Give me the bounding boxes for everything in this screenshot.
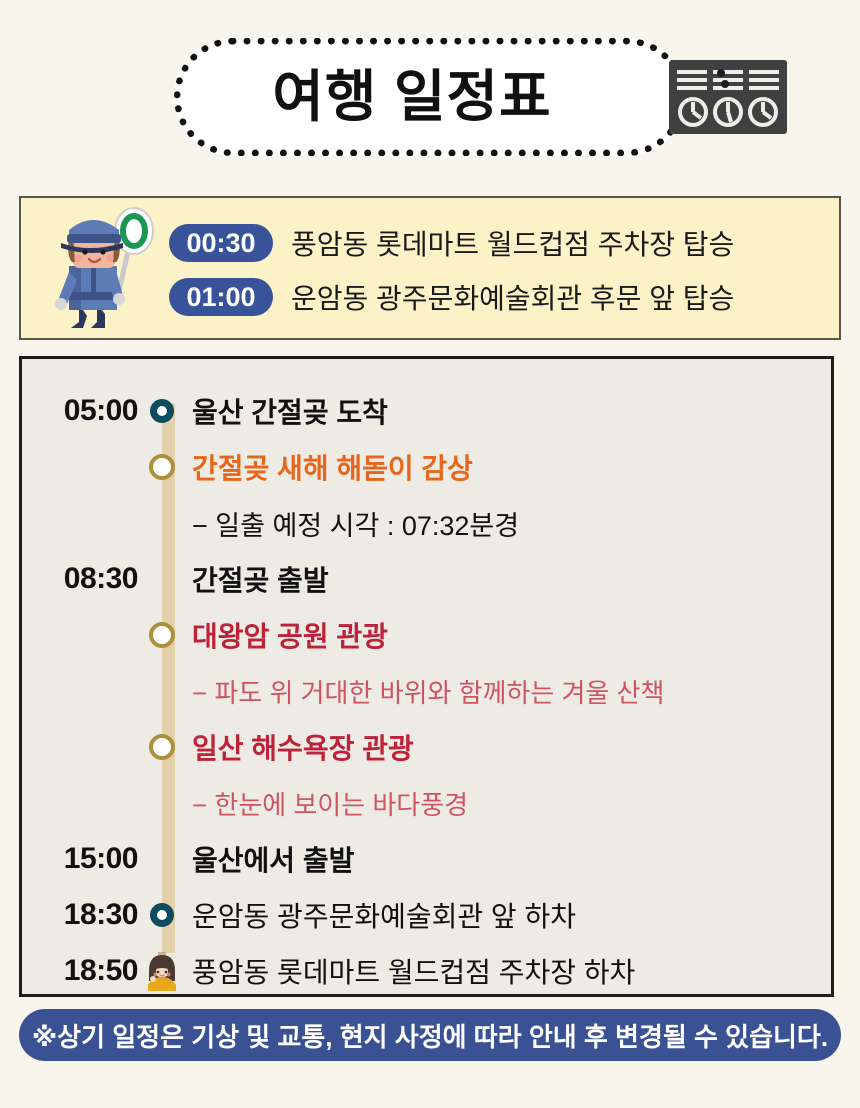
row-time: 08:30 [22, 562, 144, 596]
title-pill: 여행 일정표 [174, 38, 686, 156]
time-badge: 01:00 [169, 278, 273, 316]
row-text: − 파도 위 거대한 바위와 함께하는 겨울 산책 [192, 673, 664, 710]
timeline-dot-icon [149, 734, 175, 760]
row-marker-gold [144, 734, 180, 760]
row-marker-gold [144, 622, 180, 648]
boarding-row-text: 풍암동 롯데마트 월드컵점 주차장 탑승 [291, 223, 734, 263]
page-header: 여행 일정표 [0, 32, 860, 162]
row-text: 울산 간절곶 도착 [192, 391, 388, 431]
row-time: 15:00 [22, 842, 144, 876]
timeline-row: 05:00 울산 간절곶 도착 [22, 383, 831, 439]
timeline: 05:00 울산 간절곶 도착 간절곶 새해 해돋이 감상 − 일출 예정 시각… [22, 383, 831, 999]
row-time: 18:30 [22, 898, 144, 932]
row-text: 간절곶 출발 [192, 559, 329, 599]
row-time: 18:50 [22, 954, 144, 988]
timeline-dot-icon [150, 903, 174, 927]
row-text: 운암동 광주문화예술회관 앞 하차 [192, 895, 576, 935]
timeline-row: 08:30 간절곶 출발 [22, 551, 831, 607]
timeline-row: − 한눈에 보이는 바다풍경 [22, 775, 831, 831]
girl-avatar-icon [142, 951, 182, 991]
row-marker-gold [144, 454, 180, 480]
timeline-dot-icon [149, 622, 175, 648]
schedule-panel: 05:00 울산 간절곶 도착 간절곶 새해 해돋이 감상 − 일출 예정 시각… [19, 356, 834, 997]
row-text: 울산에서 출발 [192, 839, 354, 879]
time-badge: 00:30 [169, 224, 273, 262]
row-text: 풍암동 롯데마트 월드컵점 주차장 하차 [192, 951, 635, 991]
boarding-row-list: 00:30 풍암동 롯데마트 월드컵점 주차장 탑승 01:00 운암동 광주문… [169, 216, 829, 324]
row-marker-teal [144, 903, 180, 927]
boarding-row-text: 운암동 광주문화예술회관 후문 앞 탑승 [291, 277, 734, 317]
row-marker-teal [144, 399, 180, 423]
row-time: 05:00 [22, 394, 144, 428]
timeline-row: 18:50 [22, 943, 831, 999]
timeline-row: − 파도 위 거대한 바위와 함께하는 겨울 산책 [22, 663, 831, 719]
timeline-row: − 일출 예정 시각 : 07:32분경 [22, 495, 831, 551]
timeline-row: 일산 해수욕장 관광 [22, 719, 831, 775]
timeline-dot-icon [149, 454, 175, 480]
timeline-dot-icon [150, 399, 174, 423]
row-text: − 한눈에 보이는 바다풍경 [192, 785, 468, 822]
timetable-board-icon [669, 60, 787, 134]
timeline-row: 대왕암 공원 관광 [22, 607, 831, 663]
row-text: 일산 해수욕장 관광 [192, 727, 414, 767]
row-text: 간절곶 새해 해돋이 감상 [192, 447, 473, 487]
timeline-row: 간절곶 새해 해돋이 감상 [22, 439, 831, 495]
row-text: 대왕암 공원 관광 [192, 615, 388, 655]
row-text: − 일출 예정 시각 : 07:32분경 [192, 504, 519, 543]
timeline-row: 15:00 울산에서 출발 [22, 831, 831, 887]
footer-notice: ※상기 일정은 기상 및 교통, 현지 사정에 따라 안내 후 변경될 수 있습… [19, 1009, 841, 1061]
timeline-row: 18:30 운암동 광주문화예술회관 앞 하차 [22, 887, 831, 943]
row-marker-avatar [144, 951, 180, 991]
boarding-row: 01:00 운암동 광주문화예술회관 후문 앞 탑승 [169, 270, 829, 324]
traffic-officer-icon [39, 204, 161, 336]
page-title: 여행 일정표 [272, 69, 551, 125]
boarding-row: 00:30 풍암동 롯데마트 월드컵점 주차장 탑승 [169, 216, 829, 270]
footer-notice-text: ※상기 일정은 기상 및 교통, 현지 사정에 따라 안내 후 변경될 수 있습… [32, 1017, 828, 1054]
boarding-info-box: 00:30 풍암동 롯데마트 월드컵점 주차장 탑승 01:00 운암동 광주문… [19, 196, 841, 340]
